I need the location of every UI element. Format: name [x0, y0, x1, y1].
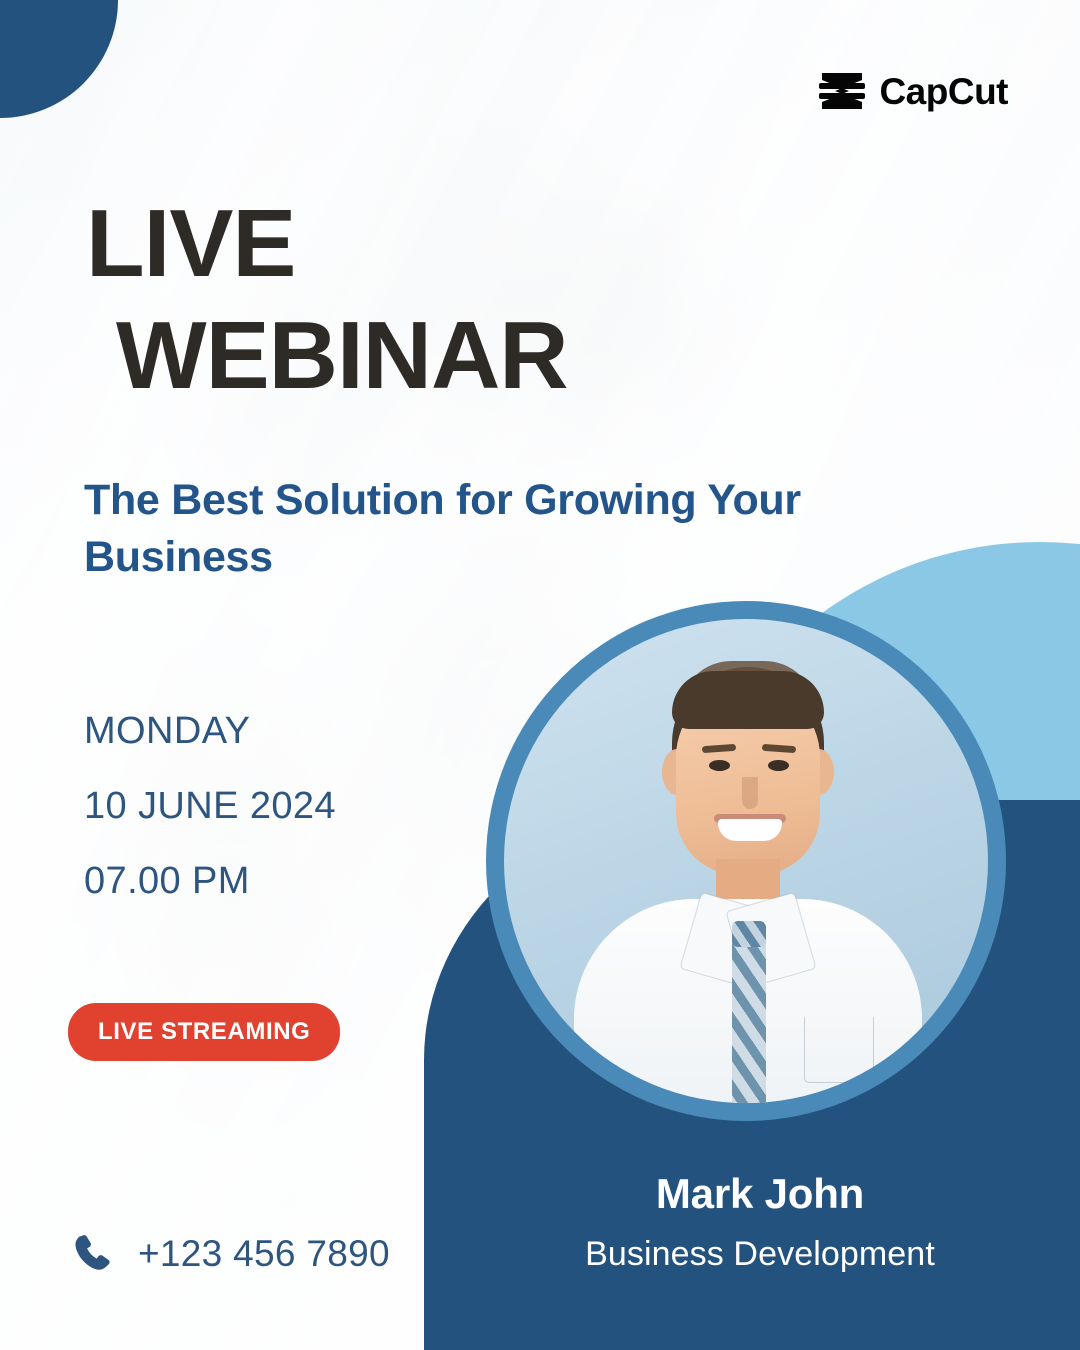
page-title: LIVE WEBINAR — [86, 188, 568, 413]
capcut-logo-icon — [818, 70, 866, 112]
headline-line-2: WEBINAR — [116, 300, 568, 412]
webinar-poster: CapCut LIVE WEBINAR The Best Solution fo… — [0, 0, 1080, 1350]
schedule-day: MONDAY — [84, 712, 336, 750]
schedule-time: 07.00 PM — [84, 862, 336, 900]
phone-number: +123 456 7890 — [138, 1235, 390, 1272]
speaker-info: Mark John Business Development — [500, 1168, 1020, 1274]
headline-line-1: LIVE — [86, 190, 295, 297]
subtitle: The Best Solution for Growing Your Busin… — [84, 472, 864, 586]
schedule-block: MONDAY 10 JUNE 2024 07.00 PM — [84, 712, 336, 937]
contact-phone[interactable]: +123 456 7890 — [72, 1232, 390, 1274]
speaker-photo — [504, 619, 988, 1103]
capcut-logo: CapCut — [818, 70, 1008, 112]
speaker-role: Business Development — [500, 1234, 1020, 1275]
speaker-name: Mark John — [500, 1168, 1020, 1221]
capcut-logo-text: CapCut — [879, 73, 1008, 110]
schedule-date: 10 JUNE 2024 — [84, 787, 336, 825]
phone-icon — [72, 1232, 114, 1274]
live-streaming-badge[interactable]: LIVE STREAMING — [68, 1003, 340, 1061]
